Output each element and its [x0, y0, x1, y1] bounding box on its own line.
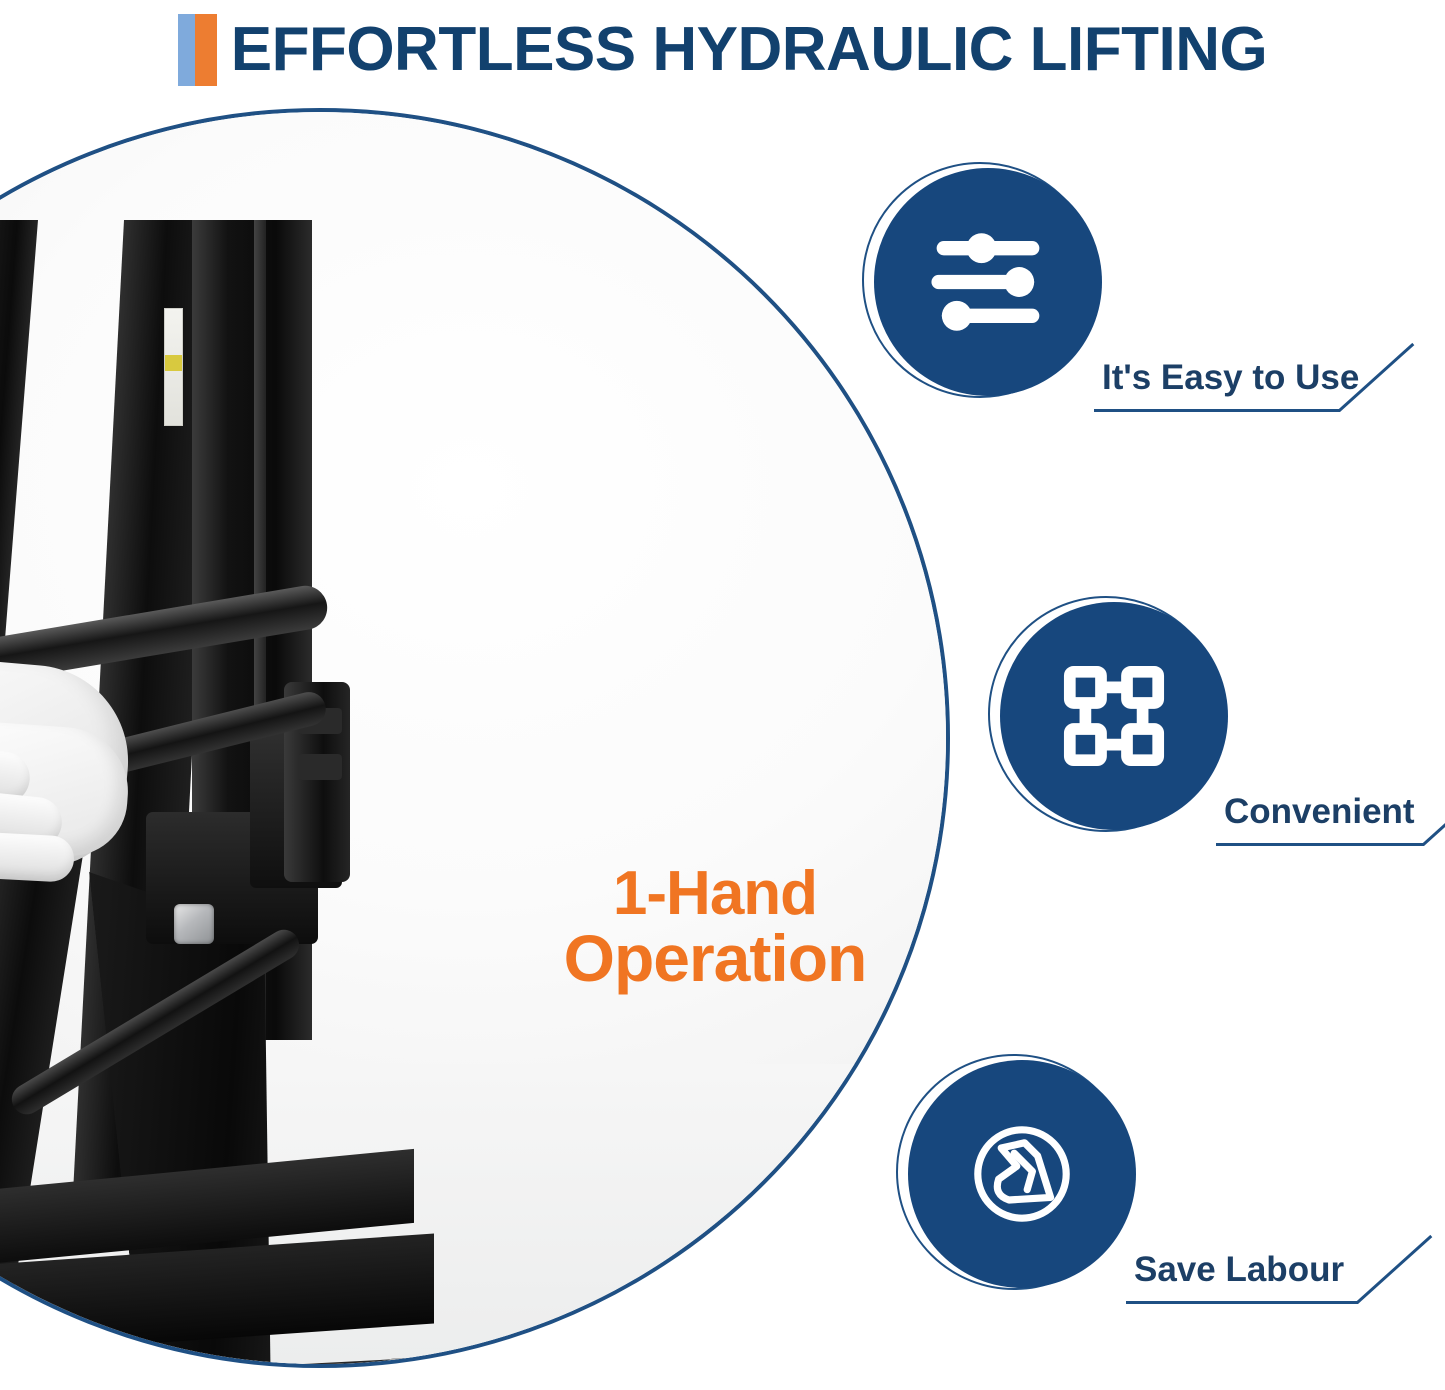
feature-label: Save Labour	[1134, 1250, 1344, 1290]
feature-connector-line	[1356, 1235, 1432, 1304]
sliders-icon	[923, 217, 1053, 347]
hammer-circle-icon	[957, 1109, 1087, 1239]
pump-lug-bottom	[298, 754, 342, 780]
base-foot-pad	[74, 1364, 242, 1368]
feature-item-save-labour[interactable]: Save Labour	[896, 1054, 1416, 1304]
page-title-bar: EFFORTLESS HYDRAULIC LIFTING	[0, 0, 1445, 100]
feature-underline	[1216, 843, 1424, 846]
accent-bar-orange	[195, 14, 217, 86]
product-photo-circle	[0, 108, 950, 1368]
page-title: EFFORTLESS HYDRAULIC LIFTING	[231, 19, 1268, 81]
feature-underline	[1094, 409, 1340, 412]
feature-label-group: It's Easy to Use	[1094, 302, 1424, 412]
feature-badge	[896, 1054, 1136, 1294]
glove-finger-3	[0, 831, 75, 883]
feature-item-convenient[interactable]: Convenient	[988, 596, 1445, 846]
caption-line-2: Operation	[520, 925, 910, 992]
product-photo	[0, 112, 946, 1364]
hex-bolt-arm	[174, 904, 214, 944]
title-accent-bars	[178, 14, 217, 86]
warning-sticker	[164, 308, 183, 426]
badge-disc	[1000, 602, 1228, 830]
hex-bolt-base-right	[388, 1358, 416, 1368]
feature-connector-line	[1422, 777, 1445, 846]
feature-badge	[988, 596, 1228, 836]
feature-label: Convenient	[1224, 792, 1415, 832]
sticker-band	[165, 355, 182, 371]
feature-underline	[1126, 1301, 1358, 1304]
caption-line-1: 1-Hand	[613, 859, 817, 928]
feature-label-group: Convenient	[1216, 736, 1445, 846]
infographic-root: EFFORTLESS HYDRAULIC LIFTING	[0, 0, 1445, 1390]
feature-item-easy-to-use[interactable]: It's Easy to Use	[862, 162, 1422, 412]
badge-disc	[908, 1060, 1136, 1288]
feature-label: It's Easy to Use	[1102, 358, 1359, 398]
badge-disc	[874, 168, 1102, 396]
feature-label-group: Save Labour	[1126, 1194, 1436, 1304]
nodes-grid-icon	[1049, 651, 1179, 781]
accent-bar-blue	[178, 14, 195, 86]
one-hand-operation-caption: 1-Hand Operation	[520, 862, 910, 993]
feature-badge	[862, 162, 1102, 402]
